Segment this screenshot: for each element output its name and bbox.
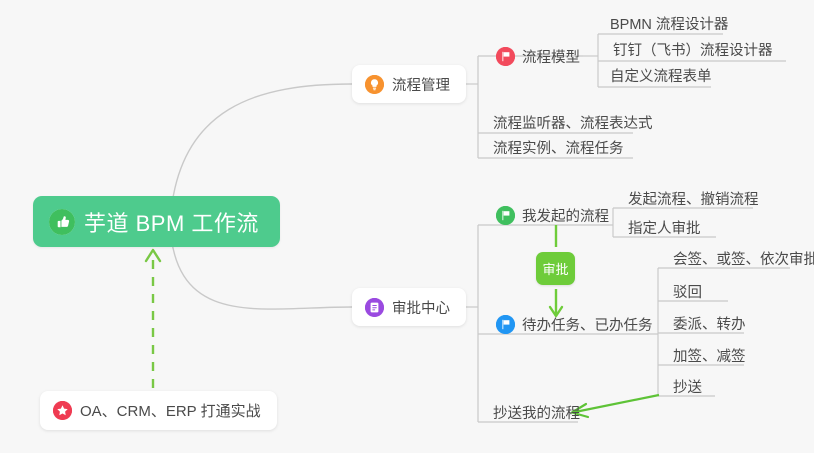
node-add-remove-sign[interactable]: 加签、减签: [663, 340, 756, 370]
flag-icon: [496, 315, 515, 334]
node-carbon-copy[interactable]: 抄送: [663, 371, 712, 401]
branch-node-process-management[interactable]: 流程管理: [352, 65, 466, 103]
node-label: 抄送: [673, 376, 702, 397]
node-cc-to-me-process[interactable]: 抄送我的流程: [483, 397, 590, 427]
node-label: 加签、减签: [673, 345, 746, 366]
node-label: 钉钉（飞书）流程设计器: [613, 39, 773, 60]
node-process-instance[interactable]: 流程实例、流程任务: [483, 132, 634, 162]
node-label: 待办任务、已办任务: [522, 314, 653, 335]
node-label: 指定人审批: [628, 217, 701, 238]
node-label: 流程实例、流程任务: [493, 137, 624, 158]
mindmap-canvas: 芋道 BPM 工作流 流程管理 流程模型 BPMN 流程设计器 钉钉（飞书）流程…: [0, 0, 814, 453]
node-label: 驳回: [673, 281, 702, 302]
node-label: 委派、转办: [673, 313, 746, 334]
branch-node-approval-center[interactable]: 审批中心: [352, 288, 466, 326]
flag-icon: [496, 206, 515, 225]
node-custom-process-form[interactable]: 自定义流程表单: [600, 60, 722, 90]
node-label: 抄送我的流程: [493, 402, 580, 423]
node-assignee-approval[interactable]: 指定人审批: [618, 212, 711, 242]
root-node[interactable]: 芋道 BPM 工作流: [33, 196, 280, 247]
floating-node-label: OA、CRM、ERP 打通实战: [80, 400, 261, 421]
approval-badge[interactable]: 审批: [536, 252, 575, 285]
floating-node-oa-crm-erp[interactable]: OA、CRM、ERP 打通实战: [40, 391, 277, 430]
node-label: 流程模型: [522, 46, 580, 67]
node-label: 发起流程、撤销流程: [628, 188, 759, 209]
badge-label: 审批: [542, 259, 568, 278]
node-start-cancel-process[interactable]: 发起流程、撤销流程: [618, 183, 769, 213]
lightbulb-icon: [365, 75, 384, 94]
node-label: 自定义流程表单: [610, 65, 712, 86]
node-label: 会签、或签、依次审批: [673, 248, 814, 269]
node-label: BPMN 流程设计器: [610, 13, 728, 34]
star-icon: [53, 401, 72, 420]
thumbs-up-icon: [49, 209, 75, 235]
node-reject[interactable]: 驳回: [663, 276, 712, 306]
node-todo-done-tasks[interactable]: 待办任务、已办任务: [488, 309, 663, 339]
node-countersign[interactable]: 会签、或签、依次审批: [663, 243, 814, 273]
node-process-model[interactable]: 流程模型: [488, 41, 590, 71]
node-delegate-transfer[interactable]: 委派、转办: [663, 308, 756, 338]
node-label: 流程监听器、流程表达式: [493, 112, 653, 133]
node-my-started-process[interactable]: 我发起的流程: [488, 200, 619, 230]
root-label: 芋道 BPM 工作流: [84, 206, 259, 238]
node-label: 我发起的流程: [522, 205, 609, 226]
clipboard-icon: [365, 298, 384, 317]
flag-icon: [496, 47, 515, 66]
branch-label: 审批中心: [392, 297, 450, 318]
branch-label: 流程管理: [392, 74, 450, 95]
